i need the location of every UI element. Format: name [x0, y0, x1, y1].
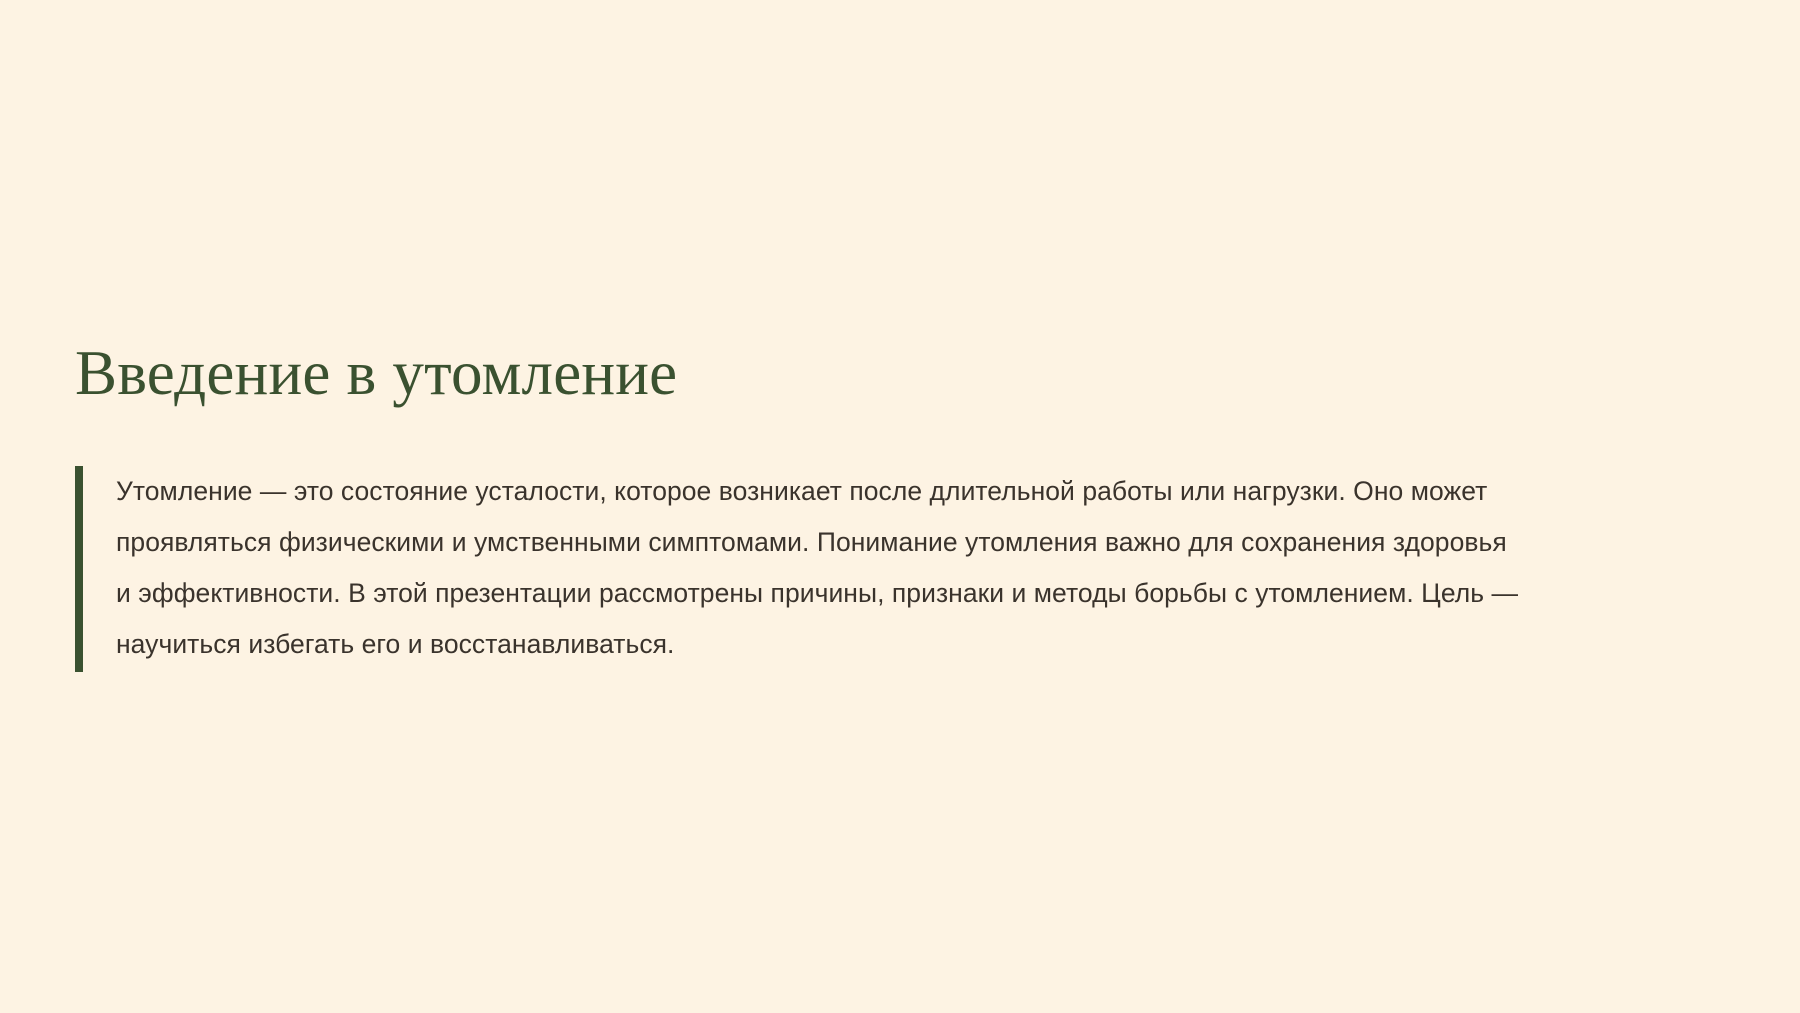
page-title: Введение в утомление: [75, 338, 677, 409]
accent-bar: [75, 466, 83, 672]
body-callout-block: Утомление — это состояние усталости, кот…: [75, 466, 1520, 672]
body-paragraph: Утомление — это состояние усталости, кот…: [116, 466, 1520, 670]
body-text-container: Утомление — это состояние усталости, кот…: [83, 466, 1520, 672]
presentation-slide: Введение в утомление Утомление — это сос…: [0, 0, 1800, 1013]
